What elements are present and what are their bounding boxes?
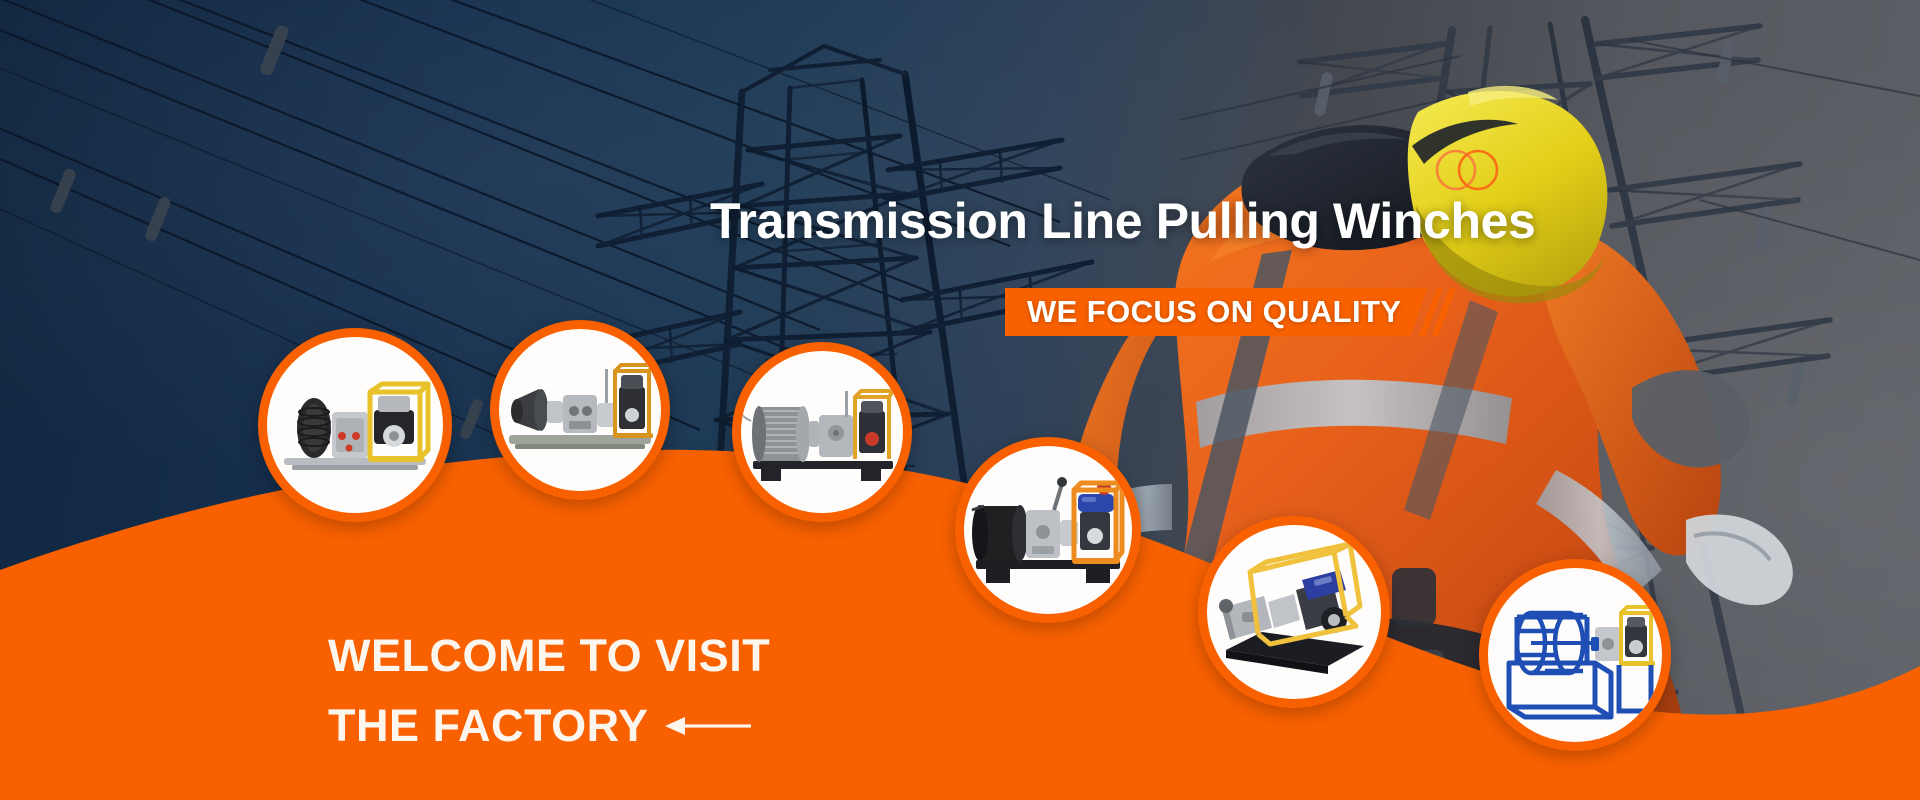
product-circle-2[interactable] <box>490 320 670 500</box>
product-circle-6[interactable] <box>1479 559 1671 751</box>
two-overlapping-rings-logo-icon <box>1432 146 1502 199</box>
status-badge: WE FOCUS ON QUALITY <box>1005 288 1427 336</box>
welcome-line-2: THE FACTORY <box>328 700 649 752</box>
welcome-line-1: WELCOME TO VISIT <box>328 630 770 682</box>
product-circle-4[interactable] <box>955 437 1141 623</box>
quality-badge: WE FOCUS ON QUALITY <box>1005 288 1427 336</box>
welcome-line-2-row: THE FACTORY <box>328 700 751 752</box>
arrow-left-icon <box>665 714 751 738</box>
page-title: Transmission Line Pulling Winches <box>710 192 1535 250</box>
quality-badge-label: WE FOCUS ON QUALITY <box>1027 294 1401 330</box>
product-circle-5[interactable] <box>1198 516 1390 708</box>
product-circle-1[interactable] <box>258 328 452 522</box>
promotional-banner: Transmission Line Pulling Winches WE FOC… <box>0 0 1920 800</box>
badge-slash-accent-icon <box>1427 288 1457 336</box>
product-circle-3[interactable] <box>732 342 912 522</box>
